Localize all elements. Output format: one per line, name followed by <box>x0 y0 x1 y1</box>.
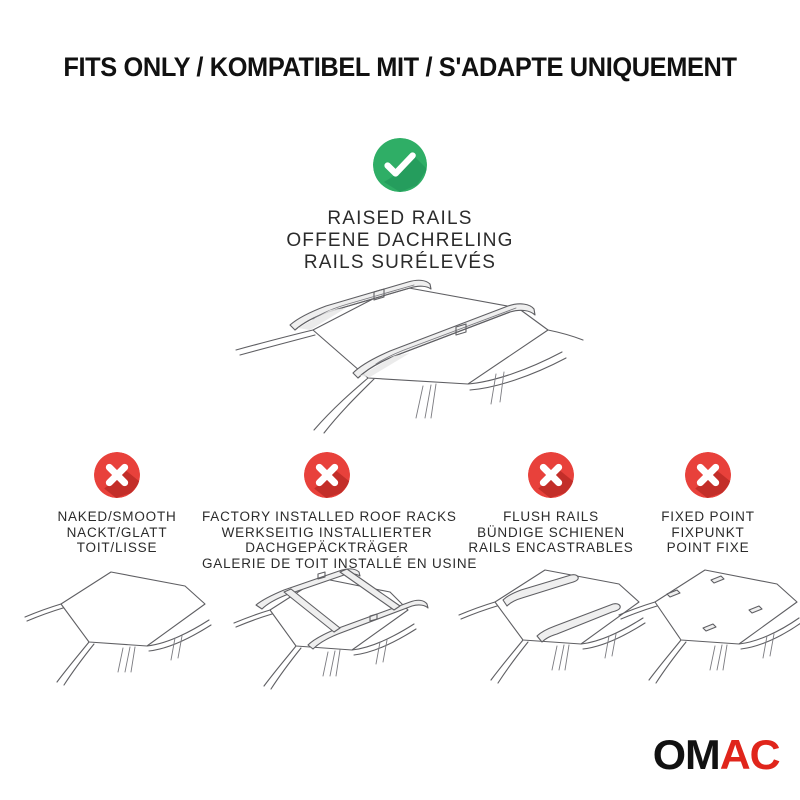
compatible-section: RAISED RAILS OFFENE DACHRELING RAILS SUR… <box>0 138 800 274</box>
incompatible-item-fixed-point: FIXED POINT FIXPUNKT POINT FIXE <box>628 452 788 556</box>
incompatible-labels: FLUSH RAILS BÜNDIGE SCHIENEN RAILS ENCAS… <box>451 509 651 556</box>
incompatible-label-fr: TOIT/LISSE <box>17 540 217 556</box>
incompatible-label-en: FIXED POINT <box>628 509 788 525</box>
incompatible-label-en: FACTORY INSTALLED ROOF RACKS <box>202 509 452 525</box>
compatible-label-en: RAISED RAILS <box>0 208 800 230</box>
car-roof-naked-smooth-illustration <box>19 560 215 700</box>
incompatible-label-de-2: DACHGEPÄCKTRÄGER <box>202 540 452 556</box>
incompatible-item-naked-smooth: NAKED/SMOOTH NACKT/GLATT TOIT/LISSE <box>17 452 217 556</box>
incompatible-section: NAKED/SMOOTH NACKT/GLATT TOIT/LISSE <box>0 452 800 712</box>
car-roof-raised-rails-illustration <box>218 278 588 443</box>
compatible-label-fr: RAILS SURÉLEVÉS <box>0 252 800 274</box>
incompatible-labels: NAKED/SMOOTH NACKT/GLATT TOIT/LISSE <box>17 509 217 556</box>
logo-text-red: AC <box>719 731 779 778</box>
incompatible-label-de: NACKT/GLATT <box>17 525 217 541</box>
incompatible-label-en: FLUSH RAILS <box>451 509 651 525</box>
incompatible-label-fr: RAILS ENCASTRABLES <box>451 540 651 556</box>
incompatible-label-fr: POINT FIXE <box>628 540 788 556</box>
incompatible-labels: FIXED POINT FIXPUNKT POINT FIXE <box>628 509 788 556</box>
cross-circle-icon <box>94 452 140 498</box>
incompatible-label-de: FIXPUNKT <box>628 525 788 541</box>
cross-circle-icon <box>304 452 350 498</box>
check-circle-icon <box>373 138 427 192</box>
compatible-labels: RAISED RAILS OFFENE DACHRELING RAILS SUR… <box>0 208 800 274</box>
omac-logo: OMAC <box>652 734 779 776</box>
car-roof-factory-roof-racks-illustration <box>222 558 432 703</box>
logo-text-dark: OM <box>652 731 719 778</box>
incompatible-item-factory-roof-racks: FACTORY INSTALLED ROOF RACKS WERKSEITIG … <box>202 452 452 571</box>
cross-circle-icon <box>528 452 574 498</box>
incompatible-label-en: NAKED/SMOOTH <box>17 509 217 525</box>
incompatible-item-flush-rails: FLUSH RAILS BÜNDIGE SCHIENEN RAILS ENCAS… <box>451 452 651 556</box>
incompatible-label-de-1: WERKSEITIG INSTALLIERTER <box>202 525 452 541</box>
incompatible-label-de: BÜNDIGE SCHIENEN <box>451 525 651 541</box>
car-roof-fixed-point-illustration <box>615 558 800 698</box>
cross-circle-icon <box>685 452 731 498</box>
page-title: FITS ONLY / KOMPATIBEL MIT / S'ADAPTE UN… <box>24 52 776 83</box>
compatible-label-de: OFFENE DACHRELING <box>0 230 800 252</box>
